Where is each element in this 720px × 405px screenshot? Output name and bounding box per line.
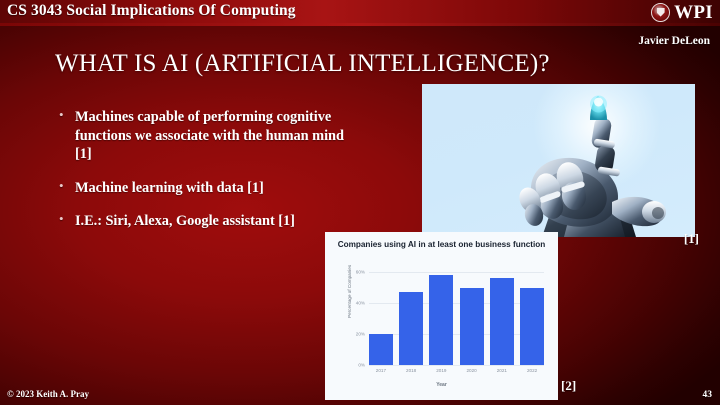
slide-header-bar: CS 3043 Social Implications Of Computing… — [0, 0, 720, 24]
slide-title: WHAT IS AI (ARTIFICIAL INTELLIGENCE)? — [55, 50, 550, 78]
x-tick-label: 2018 — [399, 368, 423, 373]
citation-marker-2: [2] — [561, 378, 576, 394]
chart-x-axis-label: Year — [325, 382, 558, 388]
bar-slot — [399, 272, 423, 365]
footer-copyright: © 2023 Keith A. Pray — [7, 389, 89, 399]
wpi-logo: WPI — [651, 1, 713, 23]
chart-plot-area: 60% 40% 20% 0% — [369, 272, 544, 365]
bar-chart: Companies using AI in at least one busin… — [325, 232, 558, 400]
presentation-slide: CS 3043 Social Implications Of Computing… — [0, 0, 720, 405]
chart-y-axis-label: Percentage of Companies — [347, 265, 352, 318]
bar-slot — [429, 272, 453, 365]
robot-hand-illustration — [422, 84, 695, 237]
bar-slot — [460, 272, 484, 365]
y-tick-label: 60% — [356, 270, 365, 275]
slide-page-number: 43 — [703, 390, 713, 400]
list-item: Machine learning with data [1] — [57, 179, 347, 198]
x-tick-label: 2019 — [429, 368, 453, 373]
y-tick-label: 20% — [356, 331, 365, 336]
course-title: CS 3043 Social Implications Of Computing — [7, 2, 296, 20]
wpi-seal-icon — [651, 3, 670, 22]
bar-2021 — [490, 278, 514, 365]
x-tick-label: 2020 — [460, 368, 484, 373]
list-item: Machines capable of performing cognitive… — [57, 108, 347, 164]
bar-2018 — [399, 292, 423, 365]
list-item: I.E.: Siri, Alexa, Google assistant [1] — [57, 212, 347, 231]
bar-slot — [520, 272, 544, 365]
y-tick-label: 40% — [356, 300, 365, 305]
citation-marker-1: [1] — [684, 231, 699, 247]
robotic-hand-image — [422, 84, 695, 237]
bar-2020 — [460, 288, 484, 366]
bar-slot — [369, 272, 393, 365]
bar-2019 — [429, 275, 453, 365]
chart-bars — [369, 272, 544, 365]
chart-x-tick-labels: 2017 2018 2019 2020 2021 2022 — [369, 368, 544, 373]
x-tick-label: 2017 — [369, 368, 393, 373]
wpi-logo-text: WPI — [674, 3, 713, 22]
y-tick-label: 0% — [358, 363, 365, 368]
chart-title: Companies using AI in at least one busin… — [325, 240, 558, 251]
x-tick-label: 2021 — [490, 368, 514, 373]
gridline: 0% — [369, 365, 544, 366]
x-tick-label: 2022 — [520, 368, 544, 373]
bar-2022 — [520, 288, 544, 366]
presenter-name: Javier DeLeon — [638, 35, 710, 47]
bullet-list: Machines capable of performing cognitive… — [57, 108, 347, 246]
bar-2017 — [369, 334, 393, 365]
bar-slot — [490, 272, 514, 365]
